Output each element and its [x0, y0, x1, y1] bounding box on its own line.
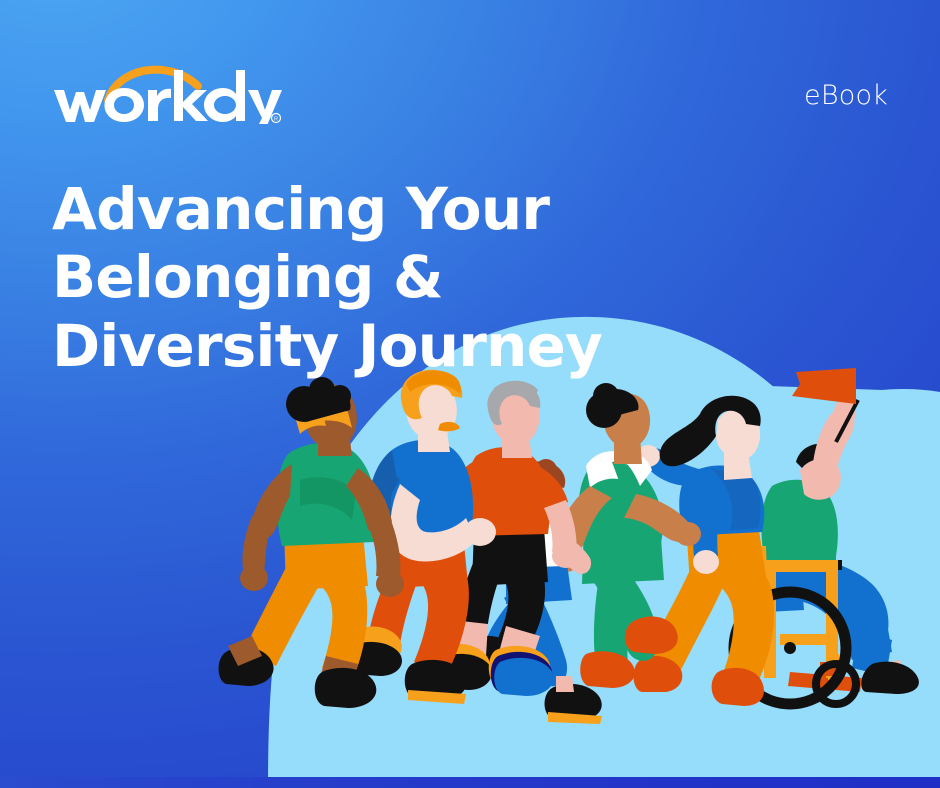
ebook-cover: R eBook Advancing Your Belonging & Diver…	[0, 0, 940, 788]
svg-text:R: R	[274, 117, 278, 123]
page-title-line-1: Advancing Your Belonging &	[52, 175, 852, 312]
page-title: Advancing Your Belonging & Diversity Jou…	[52, 175, 852, 380]
ebook-label: eBook	[804, 80, 888, 111]
workday-logo[interactable]: R	[52, 52, 282, 124]
workday-logo-svg: R	[52, 52, 282, 124]
page-title-line-2: Diversity Journey	[52, 312, 852, 380]
bottom-accent-strip	[0, 777, 940, 788]
